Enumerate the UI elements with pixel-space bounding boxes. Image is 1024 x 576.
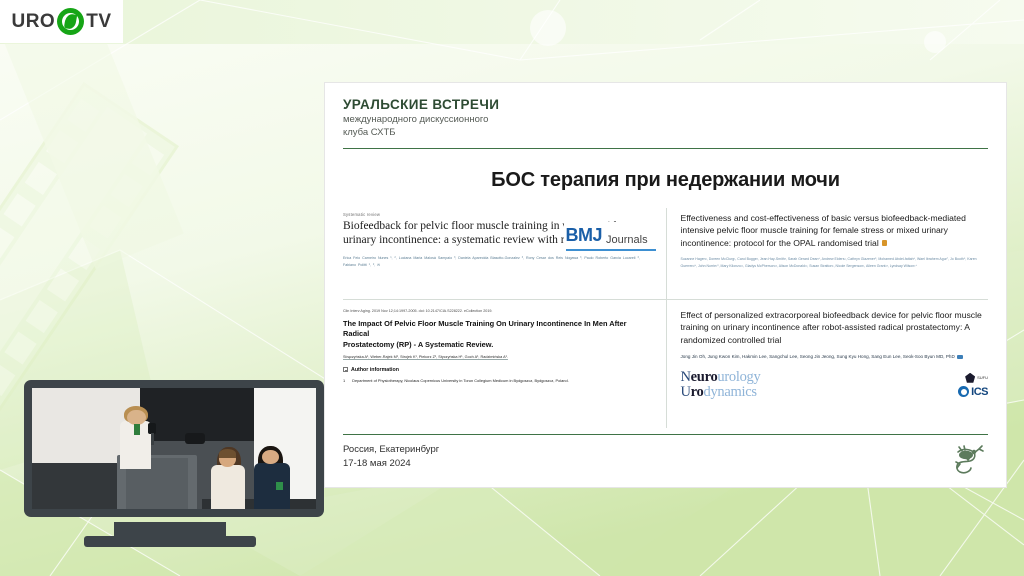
nu-logo-light-1: urology — [717, 369, 760, 385]
header-divider — [343, 148, 988, 149]
presentation-slide[interactable]: УРАЛЬСКИЕ ВСТРЕЧИ международного дискусс… — [325, 83, 1006, 487]
bmj-journals-logo: BMJ Journals — [564, 222, 658, 253]
open-lock-icon — [882, 240, 887, 246]
nu-logo-dark-1: euro — [691, 369, 718, 385]
org-title: УРАЛЬСКИЕ ВСТРЕЧИ — [343, 97, 988, 112]
monitor-bezel — [24, 380, 324, 517]
article-authors[interactable]: Strączyńska A¹, Weber-Rajek M¹, Strojek … — [343, 355, 654, 361]
nu-logo-dark-2: ro — [691, 384, 704, 400]
ics-label: ICS — [971, 386, 988, 398]
sufu-society-logo: SUFU — [965, 373, 988, 383]
channel-logo: URO TV — [0, 0, 123, 43]
scene-speaker-head — [127, 410, 145, 426]
footer-location: Россия, Екатеринбург — [343, 443, 439, 457]
scene-panelist-1-fringe — [219, 449, 236, 459]
org-subtitle-line-2: клуба СХТБ — [343, 127, 988, 140]
article-title-line-2: Prostatectomy (RP) - A Systematic Review… — [343, 340, 654, 350]
author-information-label: Author information — [351, 367, 399, 373]
slide-title: БОС терапия при недержании мочи — [343, 169, 988, 192]
articles-grid: Systematic review Biofeedback for pelvic… — [343, 208, 988, 428]
envelope-icon[interactable] — [957, 355, 963, 360]
org-subtitle-line-1: международного дискуссионного — [343, 114, 988, 127]
scene-speaker-lanyard — [134, 424, 140, 435]
logo-text-tv: TV — [86, 11, 111, 33]
article-title: Effectiveness and cost-effectiveness of … — [681, 213, 966, 248]
monitor-stand-neck — [114, 522, 226, 536]
ics-society-logo: ICS — [958, 386, 988, 398]
neurourology-urodynamics-logo: Neurourology Urodynamics SUFU — [681, 370, 989, 400]
nu-logo-cap-2: U — [681, 384, 691, 400]
scene-camera-icon — [185, 433, 205, 444]
article-card-bottom-left[interactable]: Clin Interv Aging. 2019 Nov 12;14:1997-2… — [343, 299, 666, 428]
article-journal-line: Clin Interv Aging. 2019 Nov 12;14:1997-2… — [343, 309, 654, 315]
nu-logo-cap-1: N — [681, 369, 691, 385]
article-card-top-right[interactable]: Effectiveness and cost-effectiveness of … — [666, 208, 989, 299]
bmj-wordmark: BMJ — [566, 225, 603, 246]
affiliation-row: 1 Department of Physiotherapy, Nicolaus … — [343, 378, 654, 383]
author-information-toggle[interactable]: Author information — [343, 367, 654, 373]
scene-microphone-handle — [151, 433, 154, 445]
sufu-label: SUFU — [977, 375, 988, 380]
article-title: Effect of personalized extracorporeal bi… — [681, 309, 989, 346]
ics-globe-icon — [958, 386, 969, 397]
video-frame[interactable] — [32, 388, 316, 509]
monitor-stand-base — [84, 536, 256, 547]
gecko-logo — [944, 443, 988, 477]
article-kicker: Systematic review — [343, 212, 654, 217]
article-authors: Jong Jin Oh, Jung Kwon Kim, Hakmin Lee, … — [681, 354, 955, 359]
scene-panelist-2-body — [254, 463, 291, 509]
article-authors: Suzanne Hagen¹, Doreen McClurg¹, Carol B… — [681, 256, 989, 271]
uro-leaf-circle-icon — [57, 8, 84, 35]
nu-logo-light-2: dynamics — [704, 384, 757, 400]
logo-text-uro: URO — [11, 11, 55, 33]
bmj-journals-label: Journals — [606, 234, 648, 246]
article-card-bottom-right[interactable]: Effect of personalized extracorporeal bi… — [666, 299, 989, 428]
bmj-underline — [566, 249, 656, 251]
footer-dates: 17-18 мая 2024 — [343, 457, 439, 471]
conference-video-monitor[interactable] — [24, 380, 324, 550]
collapse-minus-icon[interactable] — [343, 367, 348, 372]
scene-panelist-2-badge — [276, 482, 283, 489]
slide-header: УРАЛЬСКИЕ ВСТРЕЧИ международного дискусс… — [343, 97, 988, 149]
affiliation-number: 1 — [343, 378, 345, 383]
article-authors: Erica Feio Carneiro Nunes ¹, ², Luciana … — [343, 255, 654, 268]
slide-footer: Россия, Екатеринбург 17-18 мая 2024 — [343, 434, 988, 487]
article-card-top-left[interactable]: Systematic review Biofeedback for pelvic… — [343, 208, 666, 299]
scene-panelist-1-body — [211, 465, 245, 509]
affiliation-text: Department of Physiotherapy, Nicolaus Co… — [352, 378, 569, 383]
article-title-line-1: The Impact Of Pelvic Floor Muscle Traini… — [343, 319, 654, 339]
sufu-mark-icon — [965, 373, 975, 383]
